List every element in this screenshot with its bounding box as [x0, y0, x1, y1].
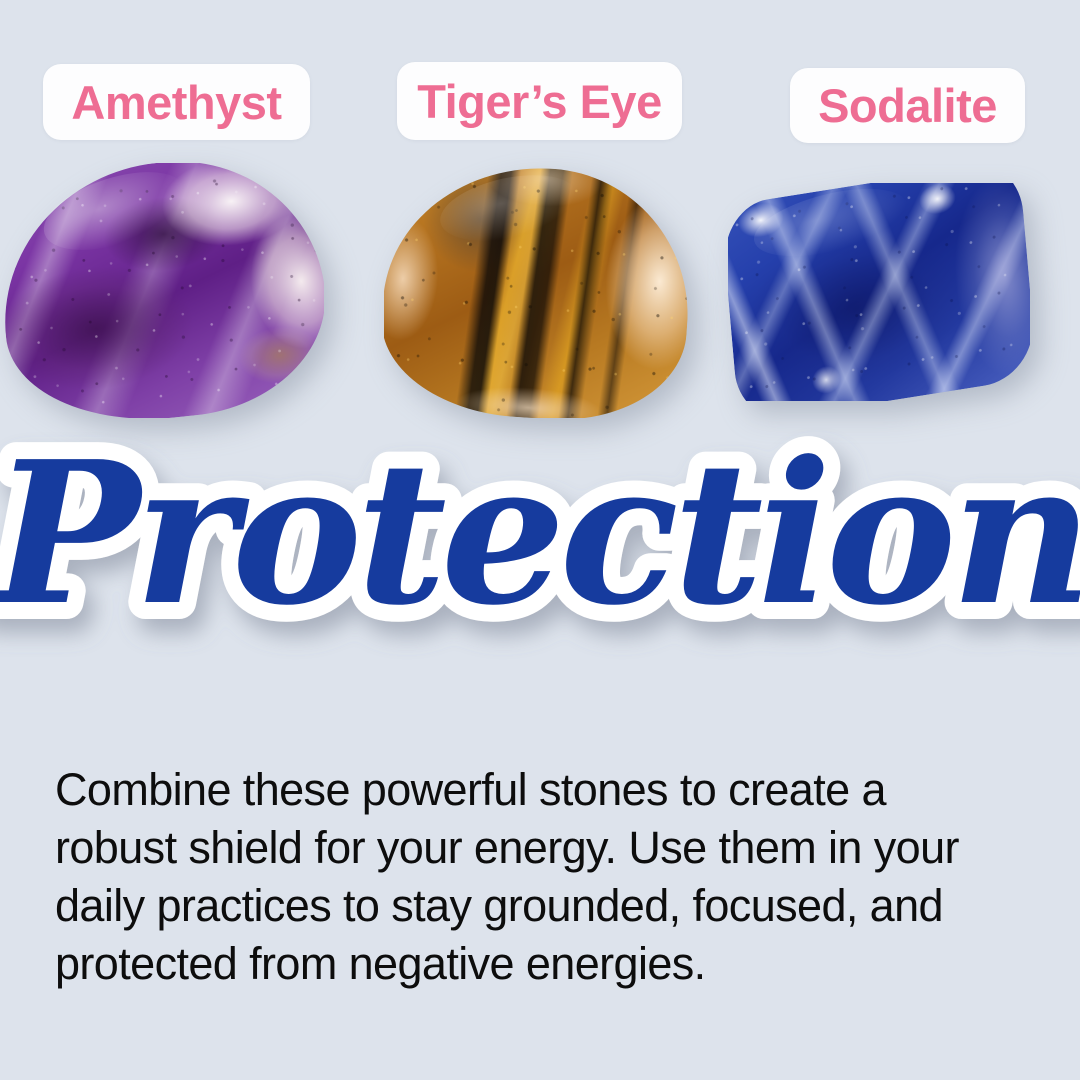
tigers-eye-stone-image: [384, 168, 689, 418]
amethyst-stone-image: [2, 163, 324, 418]
amethyst-stone-shape: [2, 163, 324, 418]
protection-crystals-graphic: Amethyst Tiger’s Eye Sodalite: [0, 0, 1080, 1080]
tigers-eye-stone-body: [384, 168, 689, 418]
protection-wordmark-group: Protection Protection: [0, 419, 1080, 649]
sodalite-stone-body: [728, 183, 1030, 401]
description-text: Combine these powerful stones to create …: [55, 761, 985, 993]
page-title: Protection Protection: [0, 430, 1080, 670]
sodalite-stone-shape: [728, 183, 1030, 401]
protection-wordmark-svg: Protection Protection: [100, 430, 980, 670]
stone-label-sodalite: Sodalite: [790, 68, 1025, 143]
tigers-eye-stone-shape: [384, 168, 689, 418]
stone-label-tigers-eye: Tiger’s Eye: [397, 62, 682, 140]
stone-label-sodalite-text: Sodalite: [818, 82, 997, 129]
amethyst-stone-body: [2, 163, 324, 418]
stone-label-amethyst-text: Amethyst: [71, 79, 281, 126]
stone-label-amethyst: Amethyst: [43, 64, 310, 140]
protection-title-fill: Protection: [0, 419, 1080, 649]
sodalite-stone-image: [728, 183, 1030, 401]
stone-label-tigers-eye-text: Tiger’s Eye: [417, 78, 661, 125]
